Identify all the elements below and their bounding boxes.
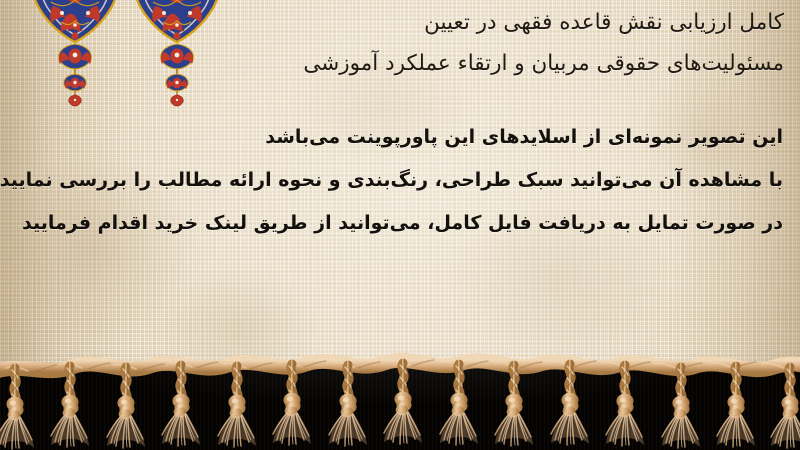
slide-body-line-3: در صورت تمایل به دریافت فایل کامل، می‌تو… (83, 202, 783, 245)
tassel (606, 365, 644, 446)
slide-title: کامل ارزیابی نقش قاعده فقهی در تعیین مسئ… (164, 2, 784, 84)
slide-body-line-2: با مشاهده آن می‌توانید سبک طراحی، رنگ‌بن… (83, 159, 783, 202)
slide-title-line-1: کامل ارزیابی نقش قاعده فقهی در تعیین (164, 2, 784, 43)
tassel (771, 367, 800, 448)
tassel (162, 365, 200, 446)
tassel (440, 364, 478, 445)
slide-canvas: کامل ارزیابی نقش قاعده فقهی در تعیین مسئ… (0, 0, 800, 450)
tassel-row (0, 363, 800, 449)
slide-body-text: این تصویر نمونه‌ای از اسلایدهای این پاور… (83, 116, 783, 245)
tassel (384, 363, 422, 444)
tassel (218, 366, 256, 447)
tassel (273, 364, 311, 445)
tassel (51, 366, 89, 447)
tassel (717, 366, 755, 447)
slide-body-line-1: این تصویر نمونه‌ای از اسلایدهای این پاور… (83, 116, 783, 159)
slide-title-line-2: مسئولیت‌های حقوقی مربیان و ارتقاء عملکرد… (164, 43, 784, 84)
tassel (107, 367, 145, 448)
tassel (495, 365, 533, 446)
tassel (329, 365, 367, 446)
tassel (551, 364, 589, 445)
persian-medallion-ornament-left (31, 0, 119, 106)
tassel (662, 367, 700, 448)
tassel (0, 368, 34, 449)
knotted-tassel-fringe (0, 346, 800, 450)
